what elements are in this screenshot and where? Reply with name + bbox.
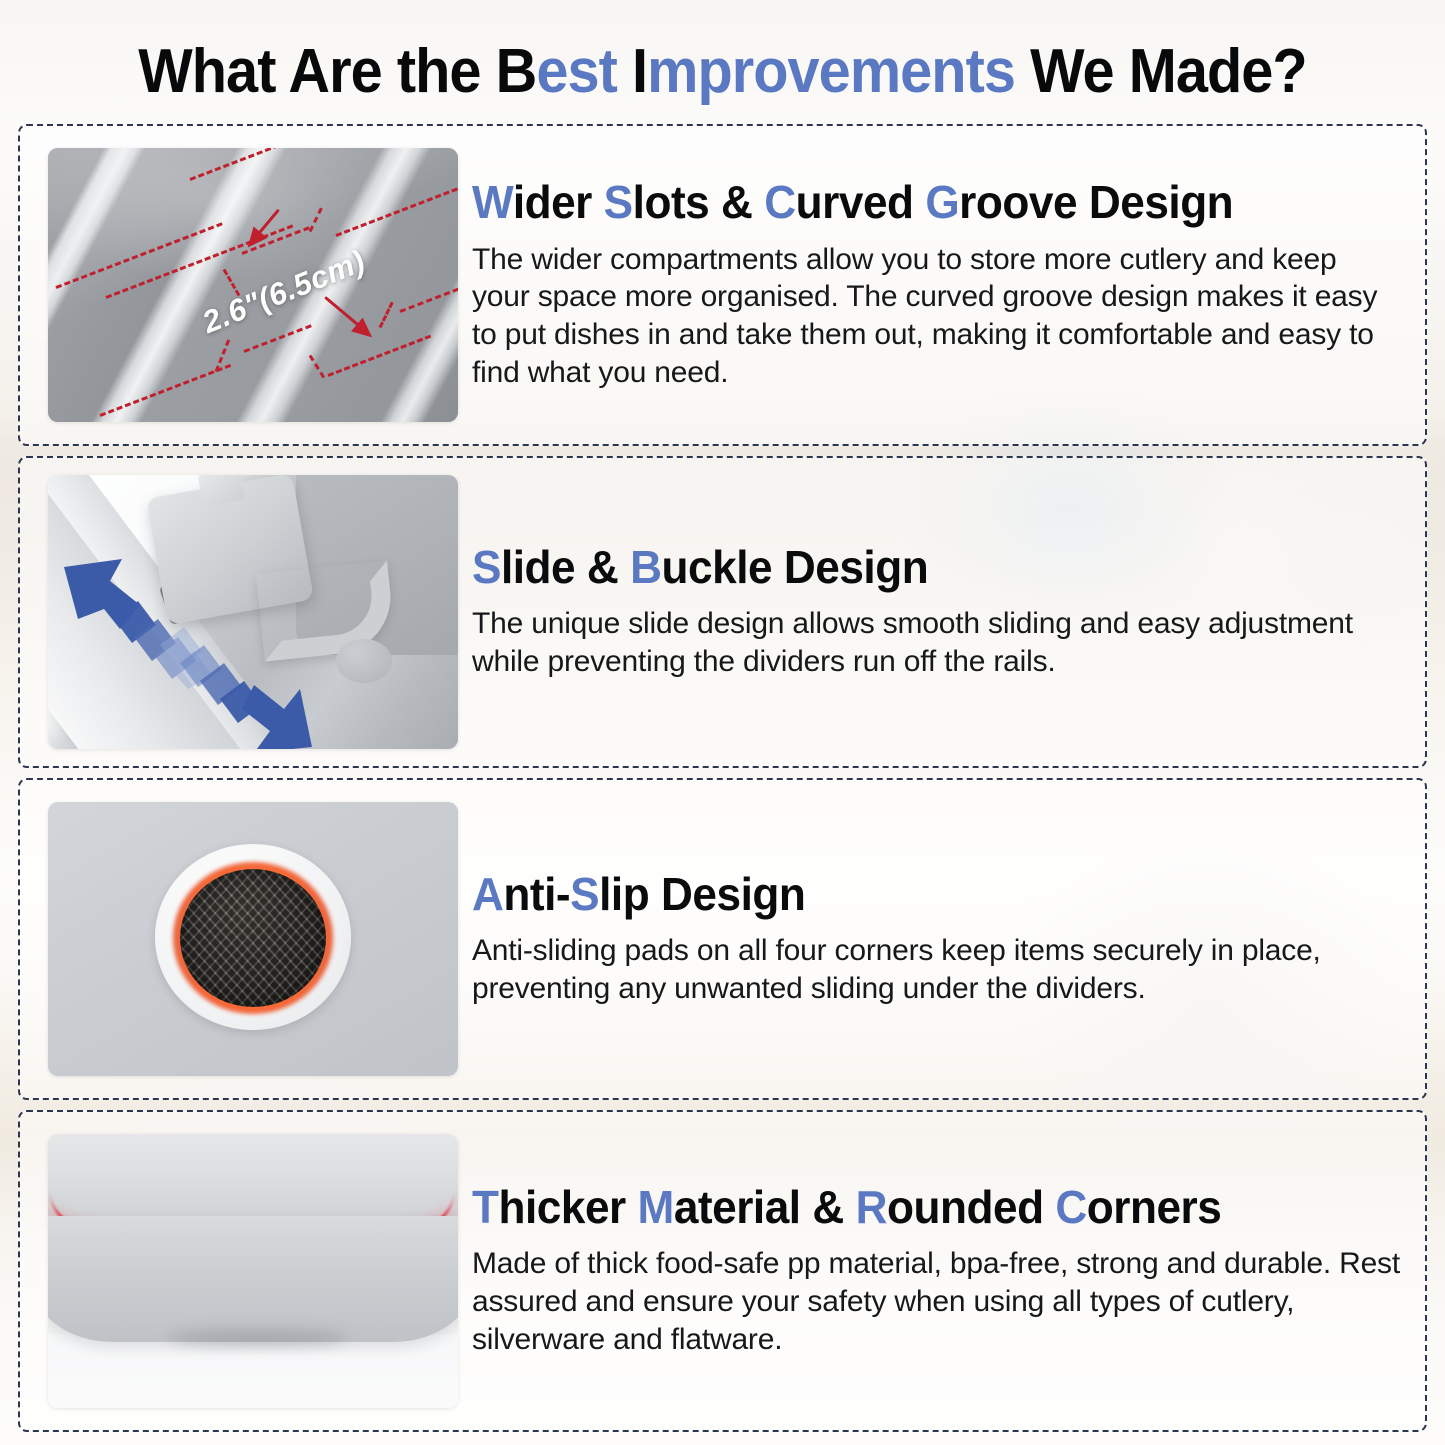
page-title: What Are the Best Improvements We Made? — [51, 36, 1395, 107]
tray-peg — [336, 639, 392, 683]
feature-text-block: Thicker Material & Rounded Corners Made … — [458, 1183, 1425, 1359]
anti-slip-pad-surface — [180, 869, 326, 1007]
feature-description: Anti-sliding pads on all four corners ke… — [472, 932, 1401, 1008]
feature-panel-anti-slip: Anti-Slip Design Anti-sliding pads on al… — [18, 778, 1427, 1100]
tray-drop-shadow — [168, 1330, 348, 1346]
grooved-tray-photo: 2.6"(6.5cm) — [48, 148, 458, 422]
feature-heading: Wider Slots & Curved Groove Design — [472, 178, 1364, 226]
slide-arrow-down-right-icon — [154, 615, 326, 749]
feature-text-block: Anti-Slip Design Anti-sliding pads on al… — [458, 870, 1425, 1008]
feature-text-block: Wider Slots & Curved Groove Design The w… — [458, 178, 1425, 391]
slide-buckle-photo — [48, 475, 458, 749]
feature-heading: Slide & Buckle Design — [472, 543, 1364, 591]
feature-description: The unique slide design allows smooth sl… — [472, 605, 1401, 681]
feature-panel-slide-buckle: Slide & Buckle Design The unique slide d… — [18, 456, 1427, 768]
tray-front-wall — [48, 1216, 458, 1342]
feature-heading: Anti-Slip Design — [472, 870, 1364, 918]
anti-slip-pad-photo — [48, 802, 458, 1076]
feature-text-block: Slide & Buckle Design The unique slide d… — [458, 543, 1425, 681]
feature-heading: Thicker Material & Rounded Corners — [472, 1183, 1364, 1231]
feature-description: Made of thick food-safe pp material, bpa… — [472, 1245, 1401, 1358]
feature-panel-thicker-material: Thicker Material & Rounded Corners Made … — [18, 1110, 1427, 1432]
rounded-corner-photo — [48, 1134, 458, 1408]
feature-panel-wider-slots: 2.6"(6.5cm) Wider Slots & Curved Groove … — [18, 124, 1427, 446]
feature-description: The wider compartments allow you to stor… — [472, 241, 1401, 392]
